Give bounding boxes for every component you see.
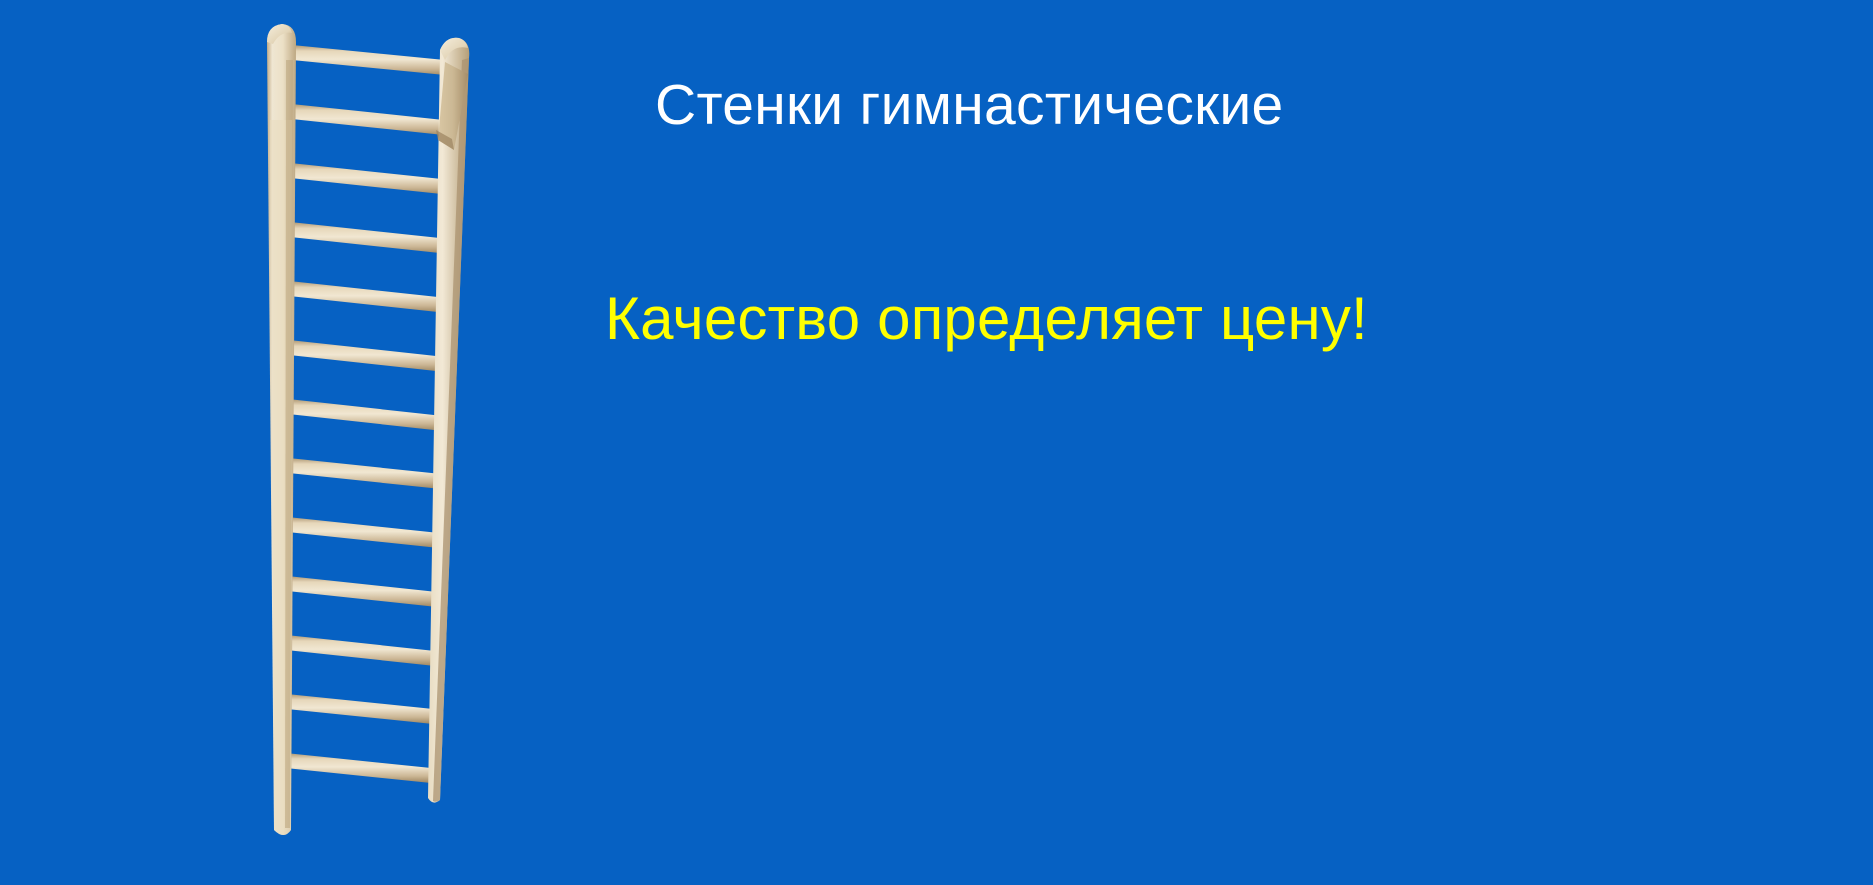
page-title: Стенки гимнастические xyxy=(655,74,1284,137)
text-content-area: Стенки гимнастические Качество определяе… xyxy=(560,0,1860,885)
gymnastic-wall-bars-image xyxy=(240,0,500,885)
slide-canvas: Стенки гимнастические Качество определяе… xyxy=(0,0,1873,885)
wall-bars-left-rail xyxy=(267,24,296,835)
wall-bars-illustration xyxy=(240,0,500,885)
tagline: Качество определяет цену! xyxy=(605,286,1368,352)
wall-bars-rungs xyxy=(276,44,455,783)
wall-bars-right-rail xyxy=(428,38,469,803)
